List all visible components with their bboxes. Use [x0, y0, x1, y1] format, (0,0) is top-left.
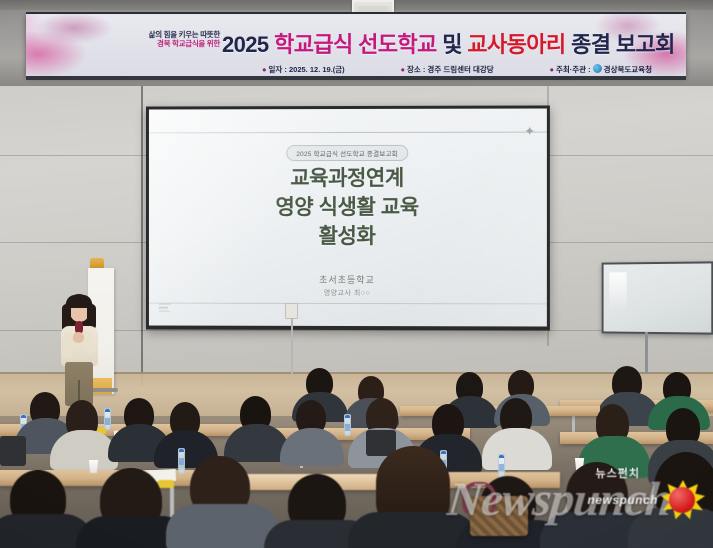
banner-subtitle-line2: 경북 학교급식을 위한	[114, 39, 220, 48]
control-bar	[159, 310, 170, 312]
projection-screen-frame: ✦ 2025 학교급식 선도학교 종결보고회 교육과정연계 영양 식생활 교육 …	[146, 105, 550, 330]
screen-hairline	[149, 303, 547, 305]
slide-presenter-name: 영양교사 최○○	[149, 288, 547, 299]
bottle-cap	[345, 415, 350, 418]
banner-subtitle: 삶의 힘을 키우는 따뜻한 경북 학교급식을 위한	[114, 30, 220, 49]
audience-shoulders	[482, 428, 552, 470]
presenter	[54, 288, 106, 408]
control-bar	[159, 303, 171, 305]
event-banner: 삶의 힘을 키우는 따뜻한 경북 학교급식을 위한 2025 학교급식 선도학교…	[26, 14, 686, 76]
screen-hairline	[149, 132, 547, 134]
banner-info-host: ●주최·주관 :경상북도교육청	[549, 64, 652, 75]
wall-outlet	[285, 303, 298, 319]
whiteboard	[602, 261, 713, 334]
bullet-icon: ●	[549, 65, 554, 74]
presenter-hand	[73, 332, 84, 343]
slide-title-line-1: 교육과정연계	[149, 165, 547, 194]
water-bottle	[178, 448, 185, 474]
sparkle-icon: ✦	[523, 125, 537, 139]
chair-back	[0, 436, 26, 466]
banner-title: 2025 학교급식 선도학교 및 교사동아리 종결 보고회	[222, 34, 675, 56]
banner-place-text: 장소 : 경주 드림센터 대강당	[407, 65, 494, 74]
banner-info-date: ●일자 : 2025. 12. 19.(금)	[262, 64, 345, 75]
banner-date-text: 일자 : 2025. 12. 19.(금)	[269, 65, 345, 74]
wall-corner-edge	[141, 86, 143, 386]
banner-info-place: ●장소 : 경주 드림센터 대강당	[400, 64, 493, 75]
banner-title-tail: 종결 보고회	[571, 32, 675, 57]
water-bottle	[104, 408, 111, 430]
handbag-strap	[462, 482, 496, 518]
bottle-label	[179, 458, 184, 465]
banner-subtitle-line1: 삶의 힘을 키우는 따뜻한	[114, 30, 220, 39]
banner-title-conjunction: 및	[442, 32, 462, 57]
snack-item	[158, 480, 174, 488]
whiteboard-stand	[645, 332, 648, 374]
slide-footer: 초서초등학교 영양교사 최○○	[149, 273, 547, 299]
bottle-label	[499, 464, 504, 471]
banner-frame-bottom	[26, 76, 686, 80]
audience-shoulders	[628, 508, 713, 548]
conference-photo: 삶의 힘을 키우는 따뜻한 경북 학교급식을 위한 2025 학교급식 선도학교…	[0, 0, 713, 548]
banner-host-org: 경상북도교육청	[604, 65, 652, 74]
banner-host-label: 주최·주관 :	[556, 65, 591, 74]
education-office-logo-icon	[593, 64, 602, 73]
bullet-icon: ●	[262, 65, 267, 74]
control-bar	[159, 307, 168, 309]
projection-screen: ✦ 2025 학교급식 선도학교 종결보고회 교육과정연계 영양 식생활 교육 …	[149, 108, 547, 326]
bottle-label	[105, 418, 110, 425]
bottle-cap	[499, 455, 504, 458]
audience-shoulders	[166, 504, 280, 548]
banner-title-year: 2025	[222, 32, 269, 57]
slide-control-marks	[159, 303, 171, 313]
banner-title-highlight-pink: 학교급식 선도학교	[274, 32, 437, 57]
bottle-cap	[441, 451, 446, 454]
water-bottle	[344, 414, 351, 436]
banner-title-highlight-red: 교사동아리	[467, 32, 565, 57]
slide-title-line-2: 영양 식생활 교육	[149, 194, 547, 223]
whiteboard-glare	[609, 272, 626, 312]
bottle-cap	[105, 409, 110, 412]
banner-info-row: ●일자 : 2025. 12. 19.(금) ●장소 : 경주 드림센터 대강당…	[262, 64, 652, 75]
slide-title: 교육과정연계 영양 식생활 교육 활성화	[149, 165, 547, 252]
slide-badge: 2025 학교급식 선도학교 종결보고회	[286, 145, 408, 161]
slide-school-name: 초서초등학교	[149, 273, 547, 287]
bottle-cap	[21, 415, 26, 418]
bottle-cap	[179, 449, 184, 452]
bottle-label	[345, 424, 350, 431]
bullet-icon: ●	[400, 65, 405, 74]
slide-title-line-3: 활성화	[149, 223, 547, 252]
outlet-conduit	[291, 318, 293, 374]
